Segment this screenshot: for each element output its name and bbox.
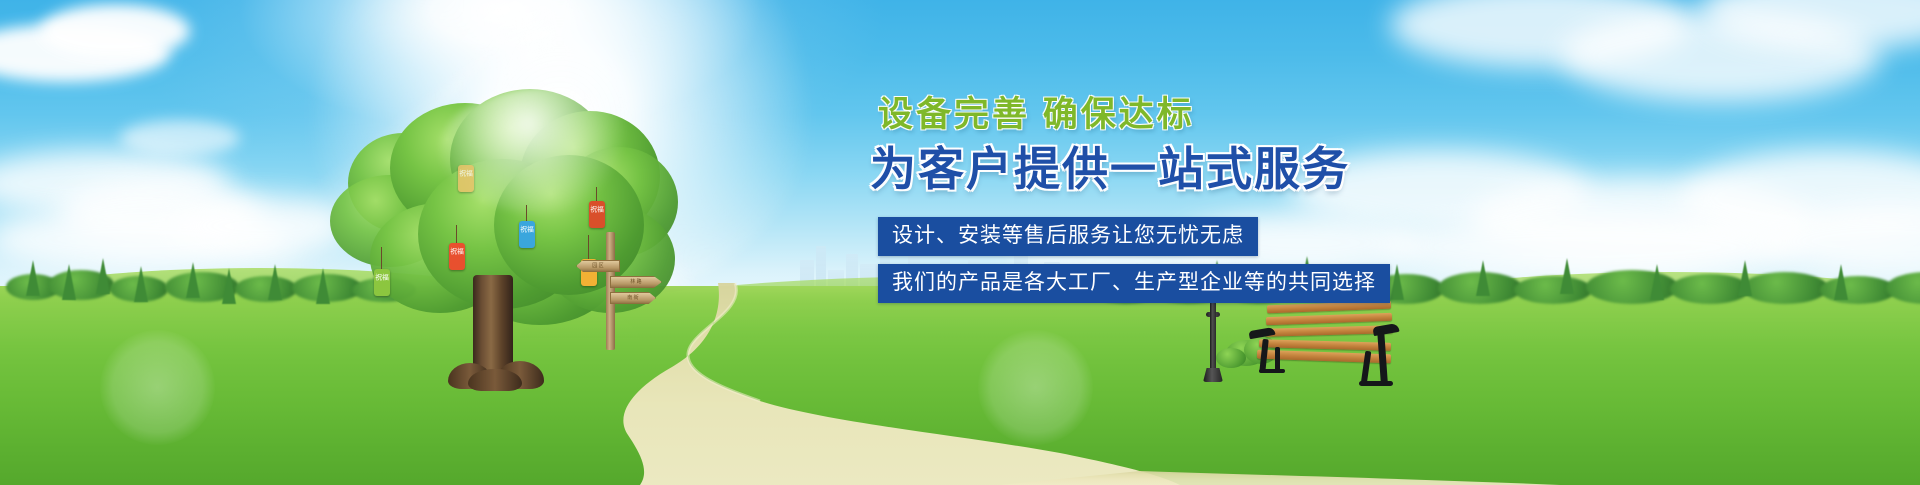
cloud <box>1680 150 1920 246</box>
hero-banner: 祝福 祝福 祝福 祝福 祝福 祝福 园 区 林 路 南 街 <box>0 0 1920 485</box>
wish-tag-label: 祝福 <box>590 206 604 214</box>
bench-arm <box>1249 327 1276 339</box>
signpost-arm: 南 街 <box>610 292 656 304</box>
bench-slat <box>1266 313 1392 325</box>
bench-leg <box>1359 381 1393 386</box>
wish-tag: 祝福 <box>374 269 390 296</box>
cloud <box>1700 0 1920 50</box>
wish-tag: 祝福 <box>458 165 474 192</box>
wish-tag: 祝福 <box>449 243 465 270</box>
cloud <box>170 196 350 256</box>
signpost: 园 区 林 路 南 街 <box>594 232 664 352</box>
cloud <box>0 150 230 216</box>
lamp-base <box>1203 368 1223 382</box>
wish-tag: 祝福 <box>519 221 535 248</box>
subbar-clients: 我们的产品是各大工厂、生产型企业等的共同选择 <box>878 264 1390 303</box>
tag-string <box>526 205 527 221</box>
bush <box>1216 348 1246 368</box>
headline-secondary: 为客户提供一站式服务 <box>870 143 1578 195</box>
signpost-pole <box>606 232 615 350</box>
tag-string <box>381 247 382 269</box>
grass-light-spot <box>100 330 215 445</box>
cloud <box>60 178 260 248</box>
wish-tag-label: 祝福 <box>375 274 389 282</box>
signpost-arm-label: 园 区 <box>592 263 603 269</box>
grass-meadow <box>0 286 1920 485</box>
wish-tag-label: 祝福 <box>459 170 473 178</box>
wish-tag-label: 祝福 <box>450 248 464 256</box>
bench-leg <box>1259 369 1285 373</box>
wish-tag-label: 祝福 <box>520 226 534 234</box>
banner-copy: 设备完善 确保达标 为客户提供一站式服务 设计、安装等售后服务让您无忧无虑 我们… <box>878 95 1578 311</box>
headline-primary: 设备完善 确保达标 <box>878 95 1578 135</box>
signpost-arm: 林 路 <box>610 276 662 288</box>
tag-string <box>596 187 597 201</box>
subbar-service: 设计、安装等售后服务让您无忧无虑 <box>878 217 1258 256</box>
cloud <box>40 4 190 58</box>
tree-root <box>468 369 522 391</box>
tag-string <box>588 235 589 259</box>
signpost-arm-label: 南 街 <box>627 295 638 301</box>
park-bench <box>1245 303 1395 393</box>
cloud <box>1390 0 1690 68</box>
subbar-row: 设计、安装等售后服务让您无忧无虑 <box>878 217 1578 256</box>
cloud <box>120 120 240 156</box>
wish-tag: 祝福 <box>589 201 605 228</box>
subbar-row: 我们的产品是各大工厂、生产型企业等的共同选择 <box>878 264 1578 303</box>
signpost-arm: 园 区 <box>576 260 620 272</box>
cloud <box>1560 10 1880 102</box>
tag-string <box>456 225 457 243</box>
signpost-arm-label: 林 路 <box>630 279 641 285</box>
cloud <box>0 24 170 82</box>
